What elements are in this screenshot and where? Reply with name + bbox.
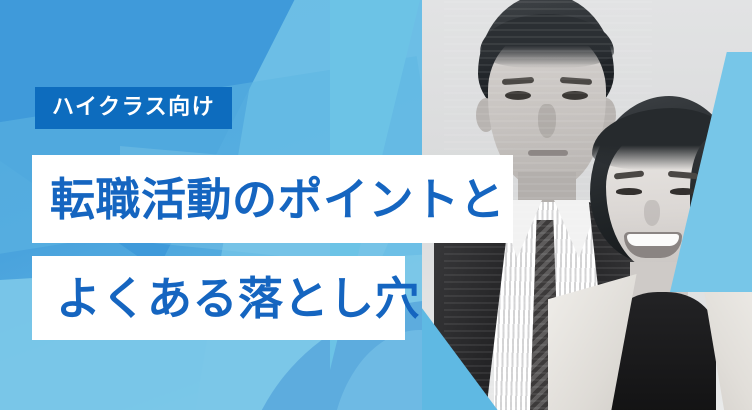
person2-nose — [644, 200, 660, 226]
headline-line-1: 転職活動のポイントと — [32, 155, 513, 243]
person1-eye-left — [505, 91, 531, 100]
headline-line-2: よくある落とし穴 — [32, 256, 405, 340]
person1-nose — [538, 104, 556, 138]
person2-teeth — [627, 234, 679, 246]
person2-eye-left — [616, 188, 642, 195]
target-audience-badge: ハイクラス向け — [35, 87, 232, 129]
promo-banner: ハイクラス向け 転職活動のポイントと よくある落とし穴 — [0, 0, 752, 410]
person1-mouth — [528, 150, 568, 156]
person2-eye-right — [670, 188, 696, 195]
